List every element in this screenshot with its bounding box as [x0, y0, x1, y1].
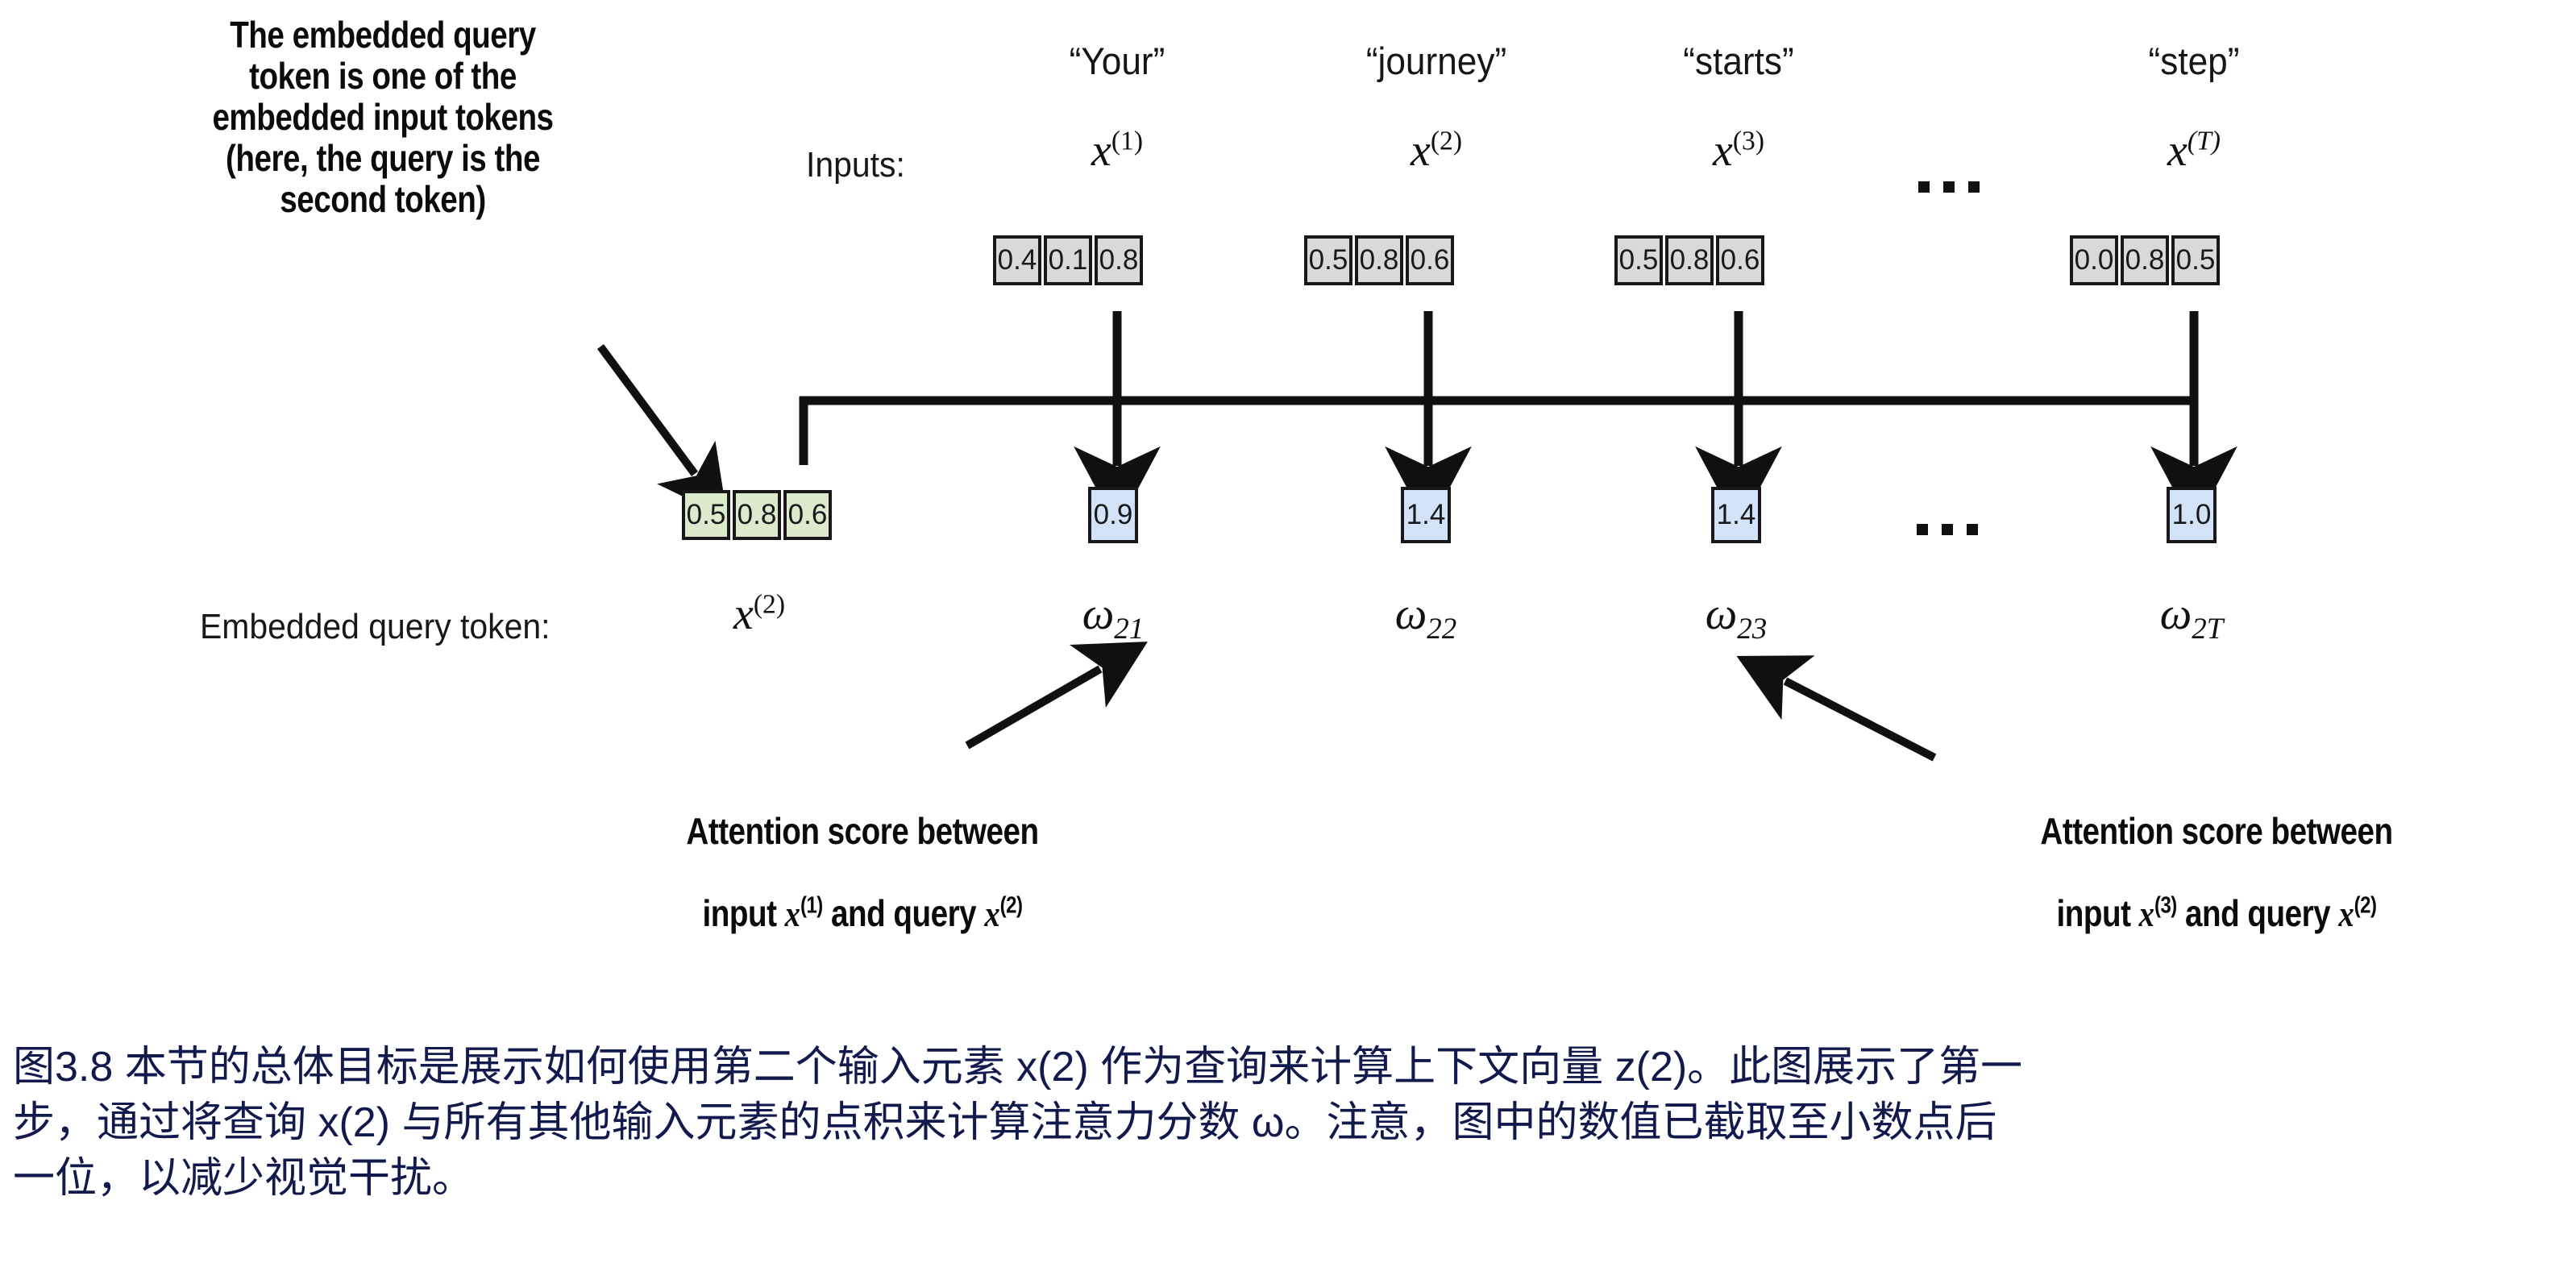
score-left-input-word: input [703, 892, 785, 934]
input-cell: 0.5 [1614, 235, 1663, 285]
score-box-1: 0.9 [1088, 487, 1138, 543]
input-cells-3: 0.5 0.8 0.6 [1614, 235, 1764, 285]
callout-score-right-line1: Attention score between [1959, 811, 2474, 852]
input-cells-4: 0.0 0.8 0.5 [2070, 235, 2220, 285]
input-var-1-symbol: x [1091, 126, 1111, 176]
input-cell: 0.8 [1355, 235, 1403, 285]
score-right-sup1: (3) [2154, 893, 2177, 919]
score-label-1: ω21 [1040, 588, 1186, 640]
score-cell: 0.9 [1088, 487, 1138, 543]
input-cell: 0.5 [1304, 235, 1352, 285]
score-right-input-word: input [2057, 892, 2139, 934]
score-box-4: 1.0 [2167, 487, 2217, 543]
query-var: x(2) [682, 588, 837, 640]
score-left-x1: x [785, 893, 800, 934]
query-cell: 0.8 [733, 490, 781, 540]
input-var-3-sup: (3) [1733, 126, 1764, 156]
input-cell: 0.5 [2171, 235, 2220, 285]
input-var-2: x(2) [1323, 125, 1549, 177]
ellipsis-dot [1917, 524, 1928, 535]
caption-line-2: 步，通过将查询 x(2) 与所有其他输入元素的点积来计算注意力分数 ω。注意，图… [13, 1095, 2560, 1151]
score-ellipsis [1917, 524, 1978, 535]
score-label-2-symbol: ω [1395, 589, 1427, 639]
input-var-1-sup: (1) [1111, 126, 1143, 156]
input-var-4: x(T) [2089, 125, 2299, 177]
query-cells: 0.5 0.8 0.6 [682, 490, 832, 540]
score-box-2: 1.4 [1401, 487, 1451, 543]
ellipsis-dot [1968, 181, 1980, 193]
input-cell: 0.1 [1044, 235, 1092, 285]
input-cells-1: 0.4 0.1 0.8 [993, 235, 1143, 285]
input-word-3: “starts” [1640, 39, 1837, 83]
input-word-4: “step” [2096, 39, 2292, 83]
input-var-4-sup: (T) [2188, 126, 2221, 156]
callout-score-right-line2: input x(3) and query x(2) [1959, 893, 2474, 934]
score-right-sup2: (2) [2354, 893, 2377, 919]
input-cell: 0.0 [2070, 235, 2118, 285]
ellipsis-dot [1918, 181, 1930, 193]
score-label-4-sub: 2T [2192, 612, 2223, 645]
input-var-4-symbol: x [2167, 126, 2188, 176]
figure-caption: 图3.8 本节的总体目标是展示如何使用第二个输入元素 x(2) 作为查询来计算上… [13, 1040, 2560, 1207]
score-cell: 1.0 [2167, 487, 2217, 543]
input-cell: 0.8 [1095, 235, 1143, 285]
score-label-2: ω22 [1352, 588, 1499, 640]
input-var-3: x(3) [1634, 125, 1843, 177]
query-cell: 0.5 [682, 490, 730, 540]
query-var-symbol: x [733, 589, 754, 639]
arrow-score-right [1785, 681, 1934, 758]
score-label-3-symbol: ω [1706, 589, 1738, 639]
callout-score-left-line1: Attention score between [605, 811, 1120, 852]
score-label-2-sub: 22 [1427, 612, 1456, 645]
score-left-sup2: (2) [1000, 893, 1023, 919]
embedded-query-token-label: Embedded query token: [200, 607, 550, 647]
score-left-sup1: (1) [800, 893, 823, 919]
score-right-x2: x [2338, 893, 2354, 934]
score-label-3: ω23 [1663, 588, 1809, 640]
caption-line-3: 一位，以减少视觉干扰。 [13, 1151, 2560, 1207]
input-var-2-symbol: x [1411, 126, 1431, 176]
input-var-3-symbol: x [1713, 126, 1733, 176]
ellipsis-dot [1967, 524, 1978, 535]
score-left-x2: x [984, 893, 999, 934]
score-label-1-sub: 21 [1114, 612, 1144, 645]
score-box-3: 1.4 [1711, 487, 1761, 543]
arrow-query-note [600, 347, 695, 474]
score-label-3-sub: 23 [1737, 612, 1767, 645]
input-ellipsis [1918, 181, 1980, 193]
input-var-4-sup-text: (T) [2188, 126, 2221, 156]
input-cells-2: 0.5 0.8 0.6 [1304, 235, 1454, 285]
input-word-1: “Your” [1019, 39, 1215, 83]
score-cell: 1.4 [1401, 487, 1451, 543]
caption-line-1: 图3.8 本节的总体目标是展示如何使用第二个输入元素 x(2) 作为查询来计算上… [13, 1040, 2560, 1095]
input-cell: 0.8 [2121, 235, 2169, 285]
score-label-1-symbol: ω [1082, 589, 1115, 639]
input-var-1: x(1) [1012, 125, 1222, 177]
figure-canvas: The embedded query token is one of the e… [0, 0, 2576, 1267]
score-right-query-word: and query [2177, 892, 2339, 934]
ellipsis-dot [1943, 181, 1955, 193]
input-var-2-sup: (2) [1431, 126, 1462, 156]
input-cell: 0.6 [1406, 235, 1454, 285]
input-word-2: “journey” [1330, 39, 1542, 83]
query-cell: 0.6 [783, 490, 832, 540]
score-cell: 1.4 [1711, 487, 1761, 543]
callout-score-left-line2: input x(1) and query x(2) [605, 893, 1120, 934]
callout-score-right: Attention score between input x(3) and q… [1959, 770, 2474, 975]
callout-score-left: Attention score between input x(1) and q… [605, 770, 1120, 975]
arrow-score-left [967, 669, 1100, 746]
inputs-label: Inputs: [806, 145, 905, 185]
score-label-4-symbol: ω [2160, 589, 2192, 639]
input-cell: 0.4 [993, 235, 1041, 285]
query-var-sup: (2) [754, 589, 785, 619]
score-label-4: ω2T [2118, 588, 2265, 640]
input-cell: 0.8 [1665, 235, 1714, 285]
ellipsis-dot [1942, 524, 1953, 535]
input-cell: 0.6 [1716, 235, 1764, 285]
callout-query-note: The embedded query token is one of the e… [149, 15, 617, 220]
score-left-query-word: and query [823, 892, 985, 934]
score-right-x1: x [2139, 893, 2154, 934]
